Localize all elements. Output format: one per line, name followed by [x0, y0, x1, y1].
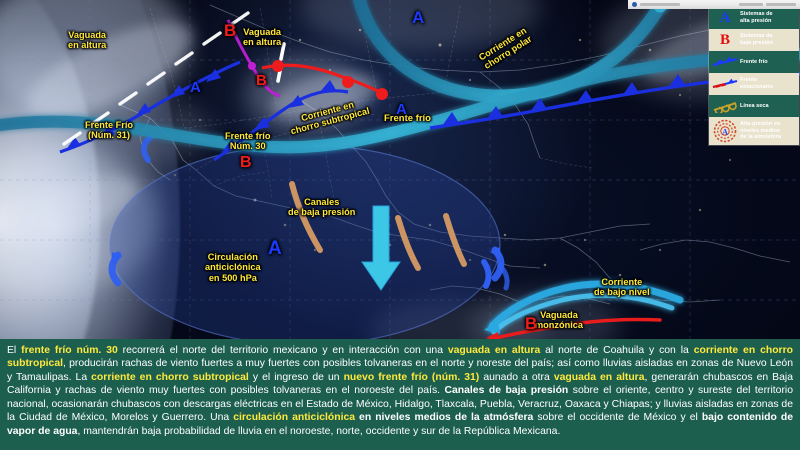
summary-highlight-term: vaguada en altura	[448, 345, 540, 356]
high-pressure-A-icon: A	[711, 10, 739, 27]
stationary-front-icon	[711, 77, 739, 91]
forecast-summary-panel: El frente frío núm. 30 recorrerá el nort…	[0, 339, 800, 450]
monsoon-trough	[486, 319, 660, 339]
summary-bold-term: Canales de baja presión	[445, 385, 569, 396]
legend-label-high-pressure: Sistemas de alta presión	[739, 11, 773, 25]
summary-highlight-term: frente frío núm. 30	[21, 345, 118, 356]
caribbean-flow-arrow	[500, 266, 507, 288]
low-level-jet	[484, 284, 680, 334]
browser-toolbar-placeholder-2	[739, 3, 763, 6]
mid-level-high-pressure-icon: A	[711, 119, 739, 143]
pressure-symbol-B-sur: B	[240, 155, 252, 171]
pressure-symbol-A-norte-centro: A	[396, 102, 407, 117]
pressure-symbol-A-noroeste: A	[190, 80, 201, 95]
legend-label-cold-front: Frente frío	[739, 59, 768, 66]
warm-front-segment	[262, 60, 388, 100]
legend-item-low-pressure: B Sistemas de baja presión	[709, 29, 799, 51]
summary-text-run: sobre el occidente de México y el	[533, 412, 701, 423]
map-legend: A Sistemas de alta presión B Sistemas de…	[708, 6, 800, 146]
forecast-summary-text: El frente frío núm. 30 recorrerá el nort…	[7, 344, 793, 438]
upper-level-trough-west	[64, 13, 248, 144]
dry-line-icon	[711, 100, 739, 113]
svg-text:A: A	[722, 128, 728, 137]
legend-item-high-pressure: A Sistemas de alta presión	[709, 7, 799, 29]
browser-toolbar-placeholder	[640, 3, 680, 6]
legend-item-dry-line: Línea seca	[709, 95, 799, 117]
summary-highlight-term: vaguada en altura	[554, 372, 645, 383]
cold-front-icon	[711, 56, 739, 69]
legend-item-cold-front: Frente frío	[709, 51, 799, 73]
legend-label-dry-line: Línea seca	[739, 103, 769, 110]
legend-label-stationary-front: Frente estacionario	[739, 77, 773, 91]
anticyclonic-circulation-area	[110, 136, 501, 339]
pressure-symbol-B-centro: B	[256, 73, 267, 88]
summary-text-run: aunado a otra	[479, 372, 554, 383]
summary-bold-term: en niveles medios de la atmósfera	[355, 412, 533, 423]
summary-highlight-term: nuevo frente frío (núm. 31)	[344, 372, 480, 383]
summary-text-run: al norte de Coahuila y con la	[540, 345, 693, 356]
summary-highlight-term: corriente en chorro subtropical	[91, 372, 249, 383]
legend-label-mid-level-high-pressure: Alta presión en niveles medios de la atm…	[739, 121, 781, 141]
legend-item-mid-level-high-pressure: A Alta presión en niveles medios de la a…	[709, 117, 799, 145]
weather-forecast-map-screenshot: Vaguada en altura Frente Frío (Núm. 31) …	[0, 0, 800, 450]
pressure-symbol-A-pacifico: A	[268, 239, 282, 258]
legend-item-stationary-front: Frente estacionario	[709, 73, 799, 95]
synoptic-features-overlay	[0, 0, 800, 339]
partial-browser-chrome[interactable]	[628, 0, 800, 9]
legend-label-low-pressure: Sistemas de baja presión	[739, 33, 773, 47]
pressure-symbol-A-noreste: A	[412, 9, 424, 26]
summary-text-run: recorrerá el norte del territorio mexica…	[118, 345, 448, 356]
satellite-weather-map: Vaguada en altura Frente Frío (Núm. 31) …	[0, 0, 800, 339]
summary-text-run: El	[7, 345, 21, 356]
low-pressure-B-icon: B	[711, 32, 739, 49]
browser-toolbar-placeholder-3	[766, 3, 796, 6]
pressure-symbol-B-monzonica: B	[525, 315, 537, 332]
summary-text-run: y el ingreso de un	[249, 372, 344, 383]
summary-text-run: , mantendrán baja probabilidad de lluvia…	[77, 426, 560, 437]
summary-highlight-term: circulación anticiclónica	[233, 412, 355, 423]
browser-logo-icon	[632, 2, 637, 7]
pressure-symbol-B-norte: B	[224, 22, 236, 39]
